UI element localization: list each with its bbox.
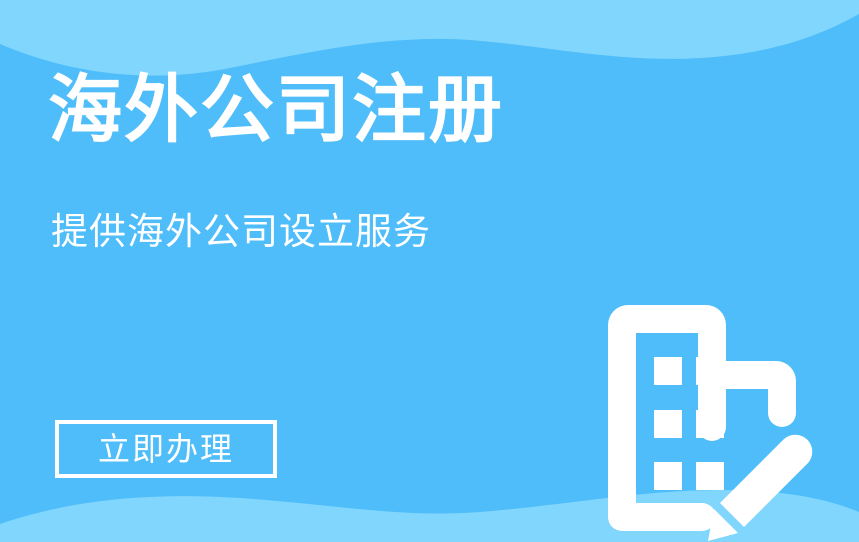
- building-window: [696, 410, 724, 438]
- pencil-body-shape: [720, 435, 812, 527]
- building-window: [654, 357, 682, 385]
- building-edit-icon: [608, 305, 813, 542]
- overseas-company-registration-banner: 海外公司注册 提供海外公司设立服务 立即办理: [0, 0, 859, 542]
- apply-now-button[interactable]: 立即办理: [55, 420, 277, 478]
- page-title: 海外公司注册: [48, 66, 504, 154]
- building-annex-shape: [726, 361, 796, 427]
- building-window: [654, 410, 682, 438]
- page-subtitle: 提供海外公司设立服务: [51, 206, 431, 258]
- building-window: [696, 357, 724, 385]
- apply-now-button-label: 立即办理: [98, 432, 234, 466]
- building-window: [696, 462, 724, 490]
- banner-content: 海外公司注册 提供海外公司设立服务 立即办理: [0, 0, 859, 542]
- building-window: [654, 462, 682, 490]
